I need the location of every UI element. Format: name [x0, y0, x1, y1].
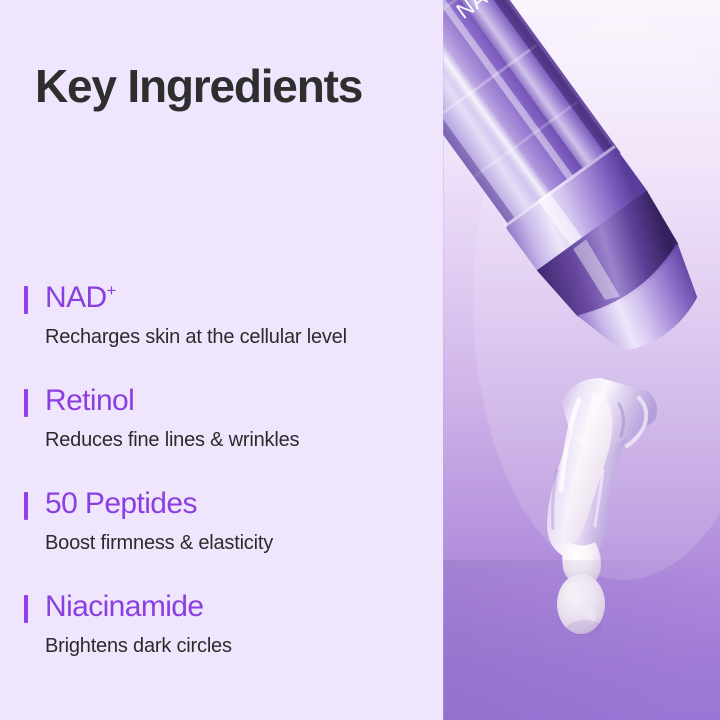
accent-bar-icon [24, 389, 28, 417]
product-image-panel: numbuzin NAD+ [443, 0, 720, 720]
accent-bar-icon [24, 286, 28, 314]
ingredient-description: Recharges skin at the cellular level [45, 325, 347, 350]
text-panel: Key Ingredients NAD+ Recharges skin at t… [0, 0, 443, 720]
ingredient-item-retinol: Retinol Reduces fine lines & wrinkles [0, 379, 443, 482]
ingredient-list: NAD+ Recharges skin at the cellular leve… [0, 276, 443, 688]
ingredient-name-text: Niacinamide [45, 590, 203, 623]
ingredient-name-text: 50 Peptides [45, 487, 197, 520]
ingredient-item-nad: NAD+ Recharges skin at the cellular leve… [0, 276, 443, 379]
accent-bar-icon [24, 595, 28, 623]
accent-bar-icon [24, 492, 28, 520]
ingredient-name: 50 Peptides [45, 486, 197, 522]
ingredient-superscript: + [107, 281, 116, 300]
ingredient-name: Niacinamide [45, 589, 203, 625]
ingredient-name: Retinol [45, 383, 134, 419]
ingredient-name-text: NAD [45, 281, 107, 314]
page-title: Key Ingredients [35, 62, 362, 110]
ingredient-item-niacinamide: Niacinamide Brightens dark circles [0, 585, 443, 688]
product-illustration: numbuzin NAD+ [443, 0, 720, 720]
key-ingredients-graphic: numbuzin NAD+ [0, 0, 720, 720]
panel-divider [443, 0, 444, 720]
ingredient-description: Brightens dark circles [45, 634, 232, 659]
ingredient-description: Boost firmness & elasticity [45, 531, 273, 556]
ingredient-name-text: Retinol [45, 384, 134, 417]
ingredient-name: NAD+ [45, 280, 116, 316]
ingredient-item-peptides: 50 Peptides Boost firmness & elasticity [0, 482, 443, 585]
product-stage: numbuzin NAD+ [443, 0, 720, 720]
ingredient-description: Reduces fine lines & wrinkles [45, 428, 299, 453]
